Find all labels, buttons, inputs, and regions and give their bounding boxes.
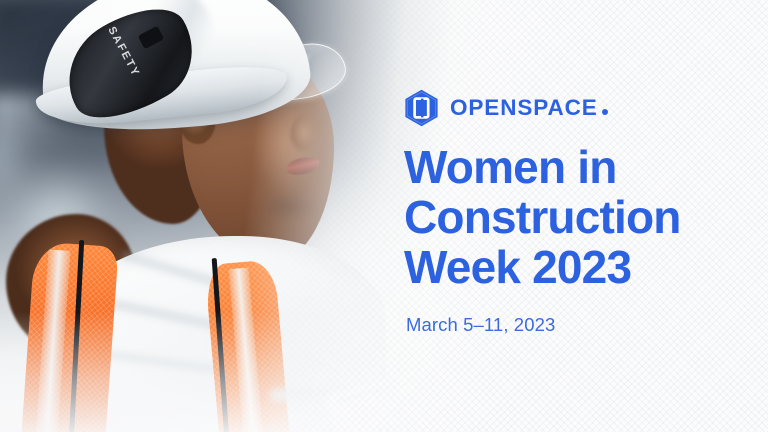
openspace-wordmark-text: OPENSPACE	[450, 95, 598, 120]
headline-line-2: Construction	[404, 192, 681, 242]
headline-line-1: Women in	[404, 142, 681, 192]
registered-trademark-icon	[602, 109, 608, 115]
page-title: Women in Construction Week 2023	[404, 142, 681, 292]
openspace-wordmark: OPENSPACE	[450, 97, 608, 120]
women-in-construction-week-banner: SAFETY OPENSPACE Women i	[0, 0, 768, 432]
brand-lockup: OPENSPACE	[404, 89, 608, 127]
content-column: OPENSPACE Women in Construction Week 202…	[404, 0, 744, 432]
openspace-hexagon-door-icon	[404, 89, 439, 127]
headline-line-3: Week 2023	[404, 242, 681, 292]
event-date: March 5–11, 2023	[406, 314, 555, 336]
